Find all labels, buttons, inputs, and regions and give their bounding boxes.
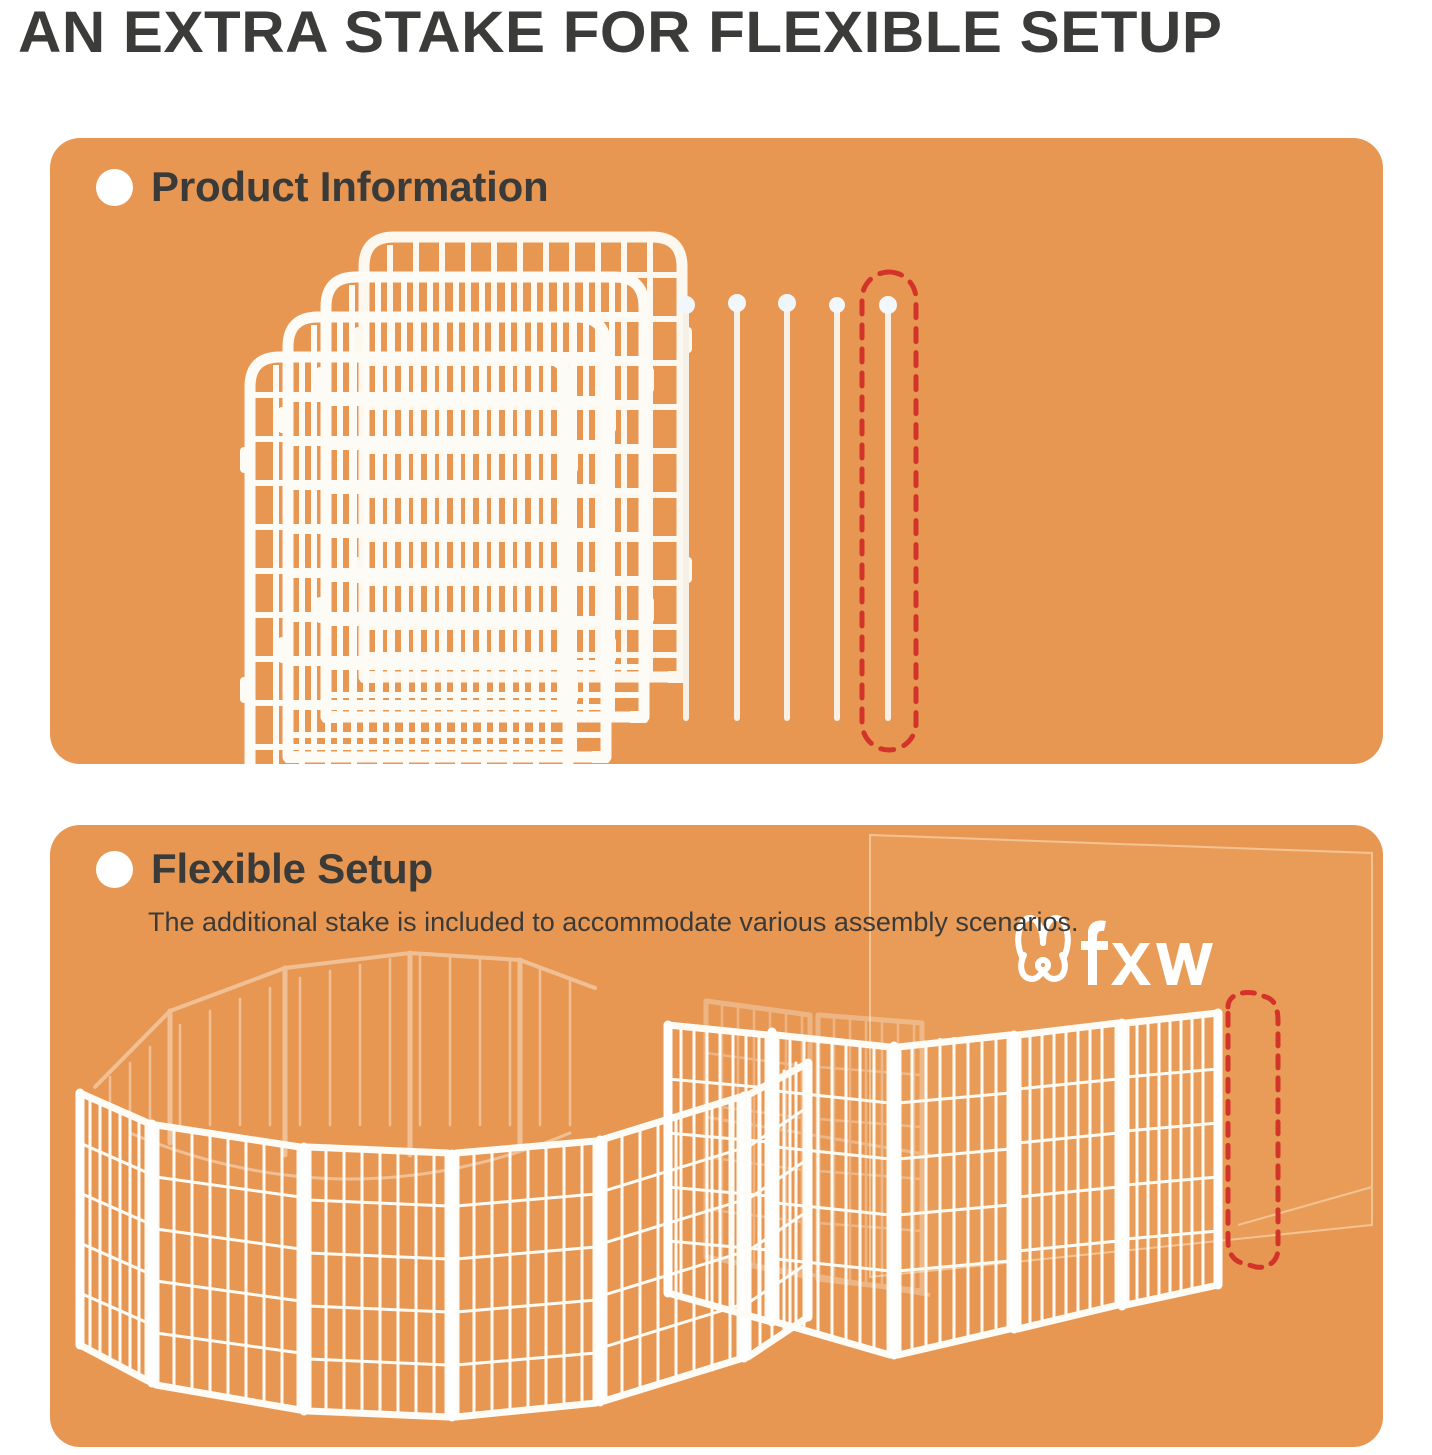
wall-plane <box>870 835 1372 1277</box>
section-subtitle-flexible-setup: The additional stake is included to acco… <box>148 907 1078 938</box>
bullet-dot-icon <box>96 169 133 206</box>
wall-pen-panel-b <box>1018 1023 1118 1329</box>
card-product-information: Product Information <box>50 138 1383 764</box>
stake-1 <box>677 296 695 718</box>
wall-pen-panel-c <box>1126 1013 1218 1305</box>
wall-pen-panel-left <box>668 1025 768 1321</box>
octagonal-playpen <box>80 953 808 1418</box>
extra-stake-highlight-wall <box>1228 993 1278 1268</box>
wire-panel-1 <box>240 357 578 764</box>
stake-5-extra <box>879 296 897 718</box>
product-information-illustration <box>50 138 1383 764</box>
wall-pen-panel-a <box>898 1035 1010 1355</box>
wall-pen-panel-corner <box>776 1035 890 1355</box>
wire-panel-4 <box>354 237 692 683</box>
bullet-dot-icon <box>96 851 133 888</box>
stake-2 <box>728 294 746 718</box>
wall-pen-back-panels <box>706 1001 930 1295</box>
card-flexible-setup: Flexible Setup The additional stake is i… <box>50 825 1383 1447</box>
stake-4 <box>829 297 845 718</box>
stake-3 <box>778 294 796 718</box>
page-title: AN EXTRA STAKE FOR FLEXIBLE SETUP <box>18 2 1432 64</box>
section-header-flexible-setup: Flexible Setup <box>96 845 433 893</box>
section-title-product-information: Product Information <box>151 163 549 211</box>
wire-panel-3 <box>316 277 654 723</box>
section-header-product-information: Product Information <box>96 163 549 211</box>
wire-panel-2 <box>278 317 616 763</box>
extra-stake-highlight <box>862 272 916 750</box>
section-title-flexible-setup: Flexible Setup <box>151 845 433 893</box>
